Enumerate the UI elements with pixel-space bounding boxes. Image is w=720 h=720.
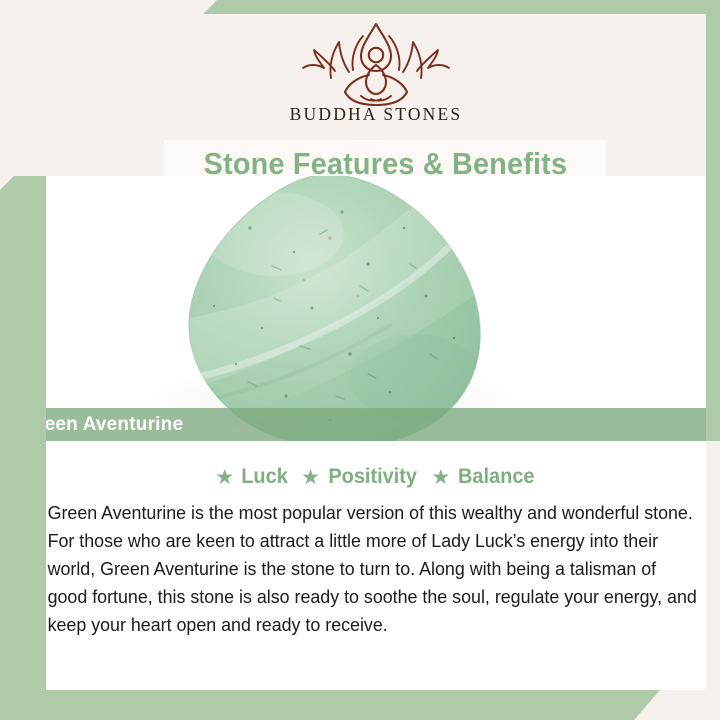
brand-logo: BUDDHA STONES [46,20,706,136]
lotus-meditation-icon [291,20,461,108]
benefit-label: Balance [458,465,535,489]
description-paragraph: Green Aventurine is the most popular ver… [34,499,713,639]
frame-accent-bottom [0,690,660,720]
stone-name-band: Green Aventurine [46,408,706,441]
star-icon: ★ [215,467,234,488]
benefit-label: Positivity [328,465,417,489]
brand-wordmark: BUDDHA STONES [290,104,463,125]
benefit-label: Luck [241,465,288,489]
frame-accent-top [203,0,720,14]
green-aventurine-stone-image [154,176,514,441]
benefits-row: ★ Luck ★ Positivity ★ Balance [46,465,706,489]
frame-accent-right [706,0,720,441]
benefit-item: ★ Balance [431,465,536,489]
description-card: ★ Luck ★ Positivity ★ Balance Green Aven… [46,441,706,690]
stone-photo: Green Aventurine [46,176,706,441]
stone-name-label: Green Aventurine [46,414,183,436]
header-panel: BUDDHA STONES Stone Features & Benefits [46,14,706,176]
benefit-item: ★ Positivity [301,465,419,489]
page-canvas: BUDDHA STONES Stone Features & Benefits [0,0,720,720]
benefit-item: ★ Luck [215,465,289,489]
star-icon: ★ [431,467,450,488]
star-icon: ★ [301,467,320,488]
